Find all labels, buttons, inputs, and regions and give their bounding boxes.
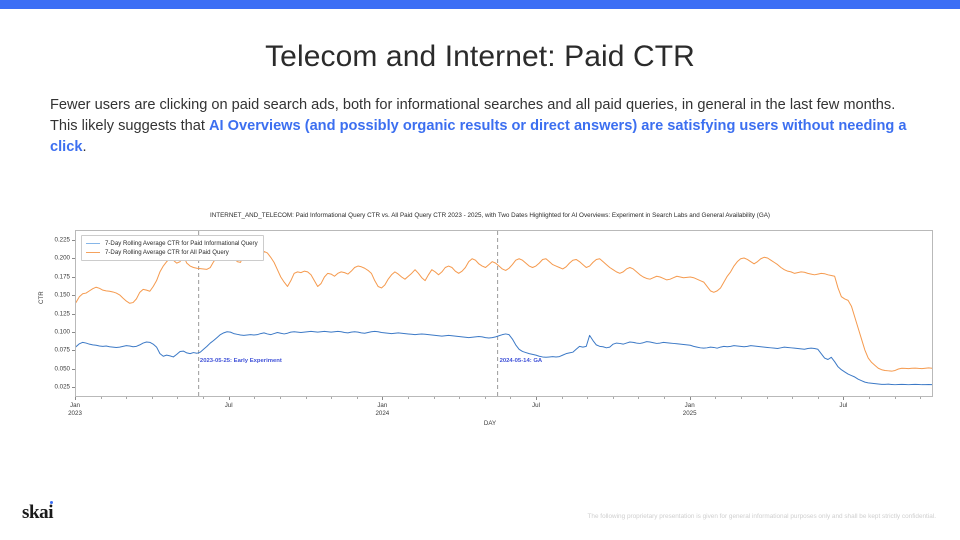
x-minor-tick <box>587 397 588 399</box>
y-tick-mark <box>72 258 75 259</box>
skai-logo: skai <box>22 502 53 524</box>
x-minor-tick <box>408 397 409 399</box>
x-minor-tick <box>715 397 716 399</box>
x-minor-tick <box>357 397 358 399</box>
x-tick-mark <box>536 397 537 400</box>
x-minor-tick <box>638 397 639 399</box>
plot-area: 7-Day Rolling Average CTR for Paid Infor… <box>75 230 933 397</box>
x-minor-tick <box>101 397 102 399</box>
x-minor-tick <box>177 397 178 399</box>
y-tick-label: 0.050 <box>55 365 70 372</box>
chart-figure: INTERNET_AND_TELECOM: Paid Informational… <box>40 212 940 432</box>
y-tick-label: 0.125 <box>55 310 70 317</box>
x-tick-label: Jan 2023 <box>68 402 82 417</box>
annotation-label-1: 2023-05-25: Early Experiment <box>200 358 282 364</box>
y-tick-label: 0.200 <box>55 255 70 262</box>
logo-accent: i <box>48 502 53 523</box>
y-tick-label: 0.150 <box>55 292 70 299</box>
x-minor-tick <box>459 397 460 399</box>
x-axis-label: DAY <box>40 420 940 427</box>
x-minor-tick <box>434 397 435 399</box>
chart-title: INTERNET_AND_TELECOM: Paid Informational… <box>40 212 940 219</box>
y-tick-label: 0.075 <box>55 347 70 354</box>
top-accent-bar <box>0 0 960 9</box>
x-tick-mark <box>382 397 383 400</box>
x-minor-tick <box>254 397 255 399</box>
x-minor-tick <box>895 397 896 399</box>
body-paragraph: Fewer users are clicking on paid search … <box>50 95 912 158</box>
legend-label-all-paid: 7-Day Rolling Average CTR for All Paid Q… <box>105 249 229 256</box>
y-tick-mark <box>72 277 75 278</box>
x-tick-mark <box>843 397 844 400</box>
legend-item-paid-informational: 7-Day Rolling Average CTR for Paid Infor… <box>86 239 258 248</box>
logo-text: ska <box>22 502 48 523</box>
y-tick-mark <box>72 332 75 333</box>
y-tick-label: 0.175 <box>55 273 70 280</box>
x-tick-mark <box>690 397 691 400</box>
y-tick-mark <box>72 350 75 351</box>
x-minor-tick <box>203 397 204 399</box>
y-tick-mark <box>72 369 75 370</box>
x-minor-tick <box>280 397 281 399</box>
y-tick-mark <box>72 240 75 241</box>
x-minor-tick <box>562 397 563 399</box>
annotation-label-2: 2024-05-14: GA <box>500 358 543 364</box>
chart-legend: 7-Day Rolling Average CTR for Paid Infor… <box>81 235 264 261</box>
legend-swatch-orange <box>86 252 100 253</box>
x-tick-mark <box>75 397 76 400</box>
y-tick-label: 0.225 <box>55 236 70 243</box>
x-tick-label: Jan 2024 <box>375 402 389 417</box>
y-tick-label: 0.025 <box>55 384 70 391</box>
x-minor-tick <box>152 397 153 399</box>
legend-item-all-paid: 7-Day Rolling Average CTR for All Paid Q… <box>86 248 258 257</box>
x-minor-tick <box>741 397 742 399</box>
x-tick-mark <box>229 397 230 400</box>
x-minor-tick <box>510 397 511 399</box>
x-minor-tick <box>792 397 793 399</box>
page-title: Telecom and Internet: Paid CTR <box>0 40 960 74</box>
y-tick-mark <box>72 387 75 388</box>
x-minor-tick <box>664 397 665 399</box>
x-minor-tick <box>485 397 486 399</box>
x-tick-label: Jan 2025 <box>683 402 697 417</box>
x-minor-tick <box>126 397 127 399</box>
x-minor-tick <box>613 397 614 399</box>
x-minor-tick <box>767 397 768 399</box>
x-minor-tick <box>306 397 307 399</box>
y-tick-mark <box>72 295 75 296</box>
x-minor-tick <box>869 397 870 399</box>
x-tick-label: Jul <box>839 402 847 410</box>
y-axis-label: CTR <box>38 291 45 304</box>
body-tail-text: . <box>82 139 86 155</box>
x-minor-tick <box>818 397 819 399</box>
x-minor-tick <box>331 397 332 399</box>
legend-swatch-blue <box>86 243 100 244</box>
y-tick-label: 0.100 <box>55 328 70 335</box>
y-tick-mark <box>72 314 75 315</box>
footer-disclaimer: The following proprietary presentation i… <box>588 513 936 520</box>
x-minor-tick <box>920 397 921 399</box>
legend-label-paid-informational: 7-Day Rolling Average CTR for Paid Infor… <box>105 240 258 247</box>
x-tick-label: Jul <box>532 402 540 410</box>
x-tick-label: Jul <box>225 402 233 410</box>
